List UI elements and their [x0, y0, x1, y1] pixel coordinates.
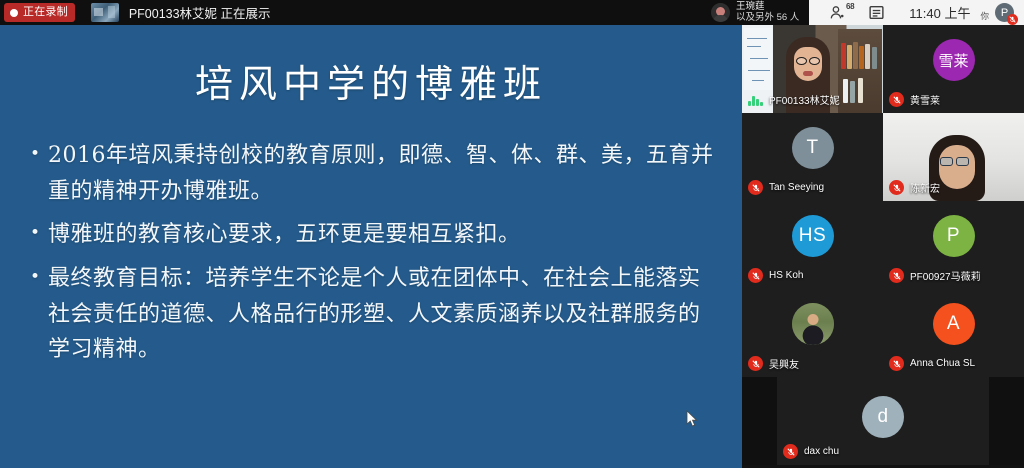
slide-bullet: • 最终教育目标：培养学生不论是个人或在团体中、在社会上能落实社会责任的道德、人…	[30, 261, 716, 368]
microphone-muted-icon	[748, 356, 763, 371]
avatar-initials: d	[877, 406, 888, 428]
participant-name: HS Koh	[769, 270, 803, 281]
avatar: P	[933, 215, 975, 257]
glasses-left-lens-icon	[796, 57, 807, 65]
participant-nameplate: 吴興友	[742, 356, 799, 371]
participants-icon	[830, 5, 847, 20]
filmstrip-row: T Tan Seeying	[742, 113, 1024, 201]
avatar-initials: P	[947, 225, 960, 247]
participant-face	[939, 145, 975, 189]
slide-bullet: • 博雅班的教育核心要求，五环更是要相互紧扣。	[30, 217, 716, 253]
mic-slash-glyph	[893, 272, 901, 280]
meeting-controls-pill: 68 11:40 上午 你 P	[809, 0, 1024, 25]
avatar-photo	[792, 303, 834, 345]
filmstrip-row: HS HS Koh P	[742, 201, 1024, 289]
participant-tile[interactable]: d dax chu	[742, 377, 1024, 465]
slide-title: 培风中学的博雅班	[0, 53, 742, 108]
participant-name: Anna Chua SL	[910, 358, 975, 369]
participant-tile[interactable]: T Tan Seeying	[742, 113, 883, 201]
participant-name: 吴興友	[769, 356, 799, 371]
participant-nameplate: PF00133林艾妮	[742, 92, 840, 107]
bullet-marker-icon: •	[30, 261, 48, 368]
participant-nameplate: Tan Seeying	[742, 180, 824, 195]
avatar: d	[862, 396, 904, 438]
participant-nameplate: HS Koh	[742, 268, 803, 283]
participants-button[interactable]: 68	[819, 0, 858, 25]
avatar-initials: A	[947, 313, 960, 335]
avatar-initials: T	[806, 137, 818, 159]
slide-bullet-text: 博雅班的教育核心要求，五环更是要相互紧扣。	[48, 217, 716, 253]
host-participant-chip[interactable]: 王琬莛 以及另外 56 人	[705, 0, 809, 25]
participant-nameplate: PF00927马薇莉	[883, 268, 981, 283]
mic-slash-glyph	[752, 272, 760, 280]
chat-button[interactable]	[858, 0, 895, 25]
participant-tile[interactable]: P PF00927马薇莉	[883, 201, 1024, 289]
bullet-marker-icon: •	[30, 138, 48, 209]
avatar: HS	[792, 215, 834, 257]
host-name-block: 王琬莛 以及另外 56 人	[736, 2, 799, 23]
microphone-muted-icon	[1009, 16, 1016, 23]
host-avatar	[711, 3, 730, 22]
filmstrip-row: PF00133林艾妮 雪莱 黄雪莱	[742, 25, 1024, 113]
slide-bullet: • 2016年培风秉持创校的教育原则，即德、智、体、群、美，五育并重的精神开办博…	[30, 138, 716, 209]
self-avatar[interactable]: P	[995, 3, 1014, 22]
microphone-muted-icon	[889, 356, 904, 371]
participant-nameplate: 黄雪莱	[883, 92, 940, 107]
participant-tile[interactable]: 吴興友	[742, 289, 883, 377]
glasses-right-lens-icon	[956, 157, 969, 166]
shared-screen-thumbnail[interactable]	[91, 3, 119, 22]
avatar: 雪莱	[933, 39, 975, 81]
recording-label: 正在录制	[23, 7, 68, 18]
participant-filmstrip[interactable]: PF00133林艾妮 雪莱 黄雪莱	[742, 25, 1024, 468]
participant-name: PF00927马薇莉	[910, 268, 981, 283]
avatar: A	[933, 303, 975, 345]
participant-tile-presenter[interactable]: PF00133林艾妮	[742, 25, 883, 113]
mic-slash-glyph	[752, 184, 760, 192]
audio-speaking-icon	[748, 93, 763, 106]
participant-tile[interactable]: HS HS Koh	[742, 201, 883, 289]
mic-slash-glyph	[893, 360, 901, 368]
you-label: 你	[980, 10, 991, 25]
host-others-count: 以及另外 56 人	[736, 13, 799, 23]
mic-slash-glyph	[752, 360, 760, 368]
avatar-initials: HS	[799, 225, 826, 247]
participant-nameplate: dax chu	[777, 444, 839, 459]
microphone-muted-icon	[889, 268, 904, 283]
microphone-muted-icon	[748, 268, 763, 283]
microphone-muted-icon	[783, 444, 798, 459]
filmstrip-row: 吴興友 A Anna Chua SL	[742, 289, 1024, 377]
participant-name: PF00133林艾妮	[769, 92, 840, 107]
meeting-top-bar: 正在录制 PF00133林艾妮 正在展示 王琬莛 以及另外 56 人 68	[0, 0, 1024, 25]
bookshelf-background	[838, 29, 882, 113]
participants-count-badge: 68	[846, 2, 854, 11]
participant-name: 黄雪莱	[910, 92, 940, 107]
glasses-left-lens-icon	[940, 157, 953, 166]
microphone-muted-icon	[889, 92, 904, 107]
presenter-mouth	[803, 71, 813, 76]
avatar-initials: 雪莱	[938, 50, 968, 71]
record-dot-icon	[10, 9, 18, 17]
shared-slide[interactable]: 培风中学的博雅班 • 2016年培风秉持创校的教育原则，即德、智、体、群、美，五…	[0, 25, 742, 468]
microphone-muted-icon	[748, 180, 763, 195]
participant-name: dax chu	[804, 446, 839, 457]
glasses-right-lens-icon	[809, 57, 820, 65]
avatar: T	[792, 127, 834, 169]
meeting-clock: 11:40 上午	[895, 3, 980, 22]
participant-nameplate: Anna Chua SL	[883, 356, 975, 371]
whiteboard-background	[744, 28, 772, 90]
participant-nameplate: 陈新宏	[883, 180, 940, 195]
recording-badge[interactable]: 正在录制	[4, 3, 75, 22]
chat-icon	[869, 5, 884, 20]
mic-slash-glyph	[893, 96, 901, 104]
mic-slash-glyph	[787, 448, 795, 456]
participant-tile[interactable]: 陈新宏	[883, 113, 1024, 201]
slide-bullet-text: 最终教育目标：培养学生不论是个人或在团体中、在社会上能落实社会责任的道德、人格品…	[48, 261, 716, 368]
slide-bullet-text: 2016年培风秉持创校的教育原则，即德、智、体、群、美，五育并重的精神开办博雅班…	[48, 138, 716, 209]
sharing-status-label: PF00133林艾妮 正在展示	[129, 3, 271, 22]
self-mute-badge[interactable]	[1007, 14, 1018, 25]
microphone-muted-icon	[889, 180, 904, 195]
participant-name: Tan Seeying	[769, 182, 824, 193]
mouse-pointer-icon	[686, 410, 698, 428]
filmstrip-row: d dax chu	[742, 377, 1024, 465]
participant-tile[interactable]: A Anna Chua SL	[883, 289, 1024, 377]
participant-name: 陈新宏	[910, 180, 940, 195]
zoom-meeting-window: 正在录制 PF00133林艾妮 正在展示 王琬莛 以及另外 56 人 68	[0, 0, 1024, 468]
slide-bullet-list: • 2016年培风秉持创校的教育原则，即德、智、体、群、美，五育并重的精神开办博…	[30, 138, 716, 368]
bullet-marker-icon: •	[30, 217, 48, 253]
host-name: 王琬莛	[736, 2, 799, 12]
mic-slash-glyph	[893, 184, 901, 192]
participant-tile[interactable]: 雪莱 黄雪莱	[883, 25, 1024, 113]
